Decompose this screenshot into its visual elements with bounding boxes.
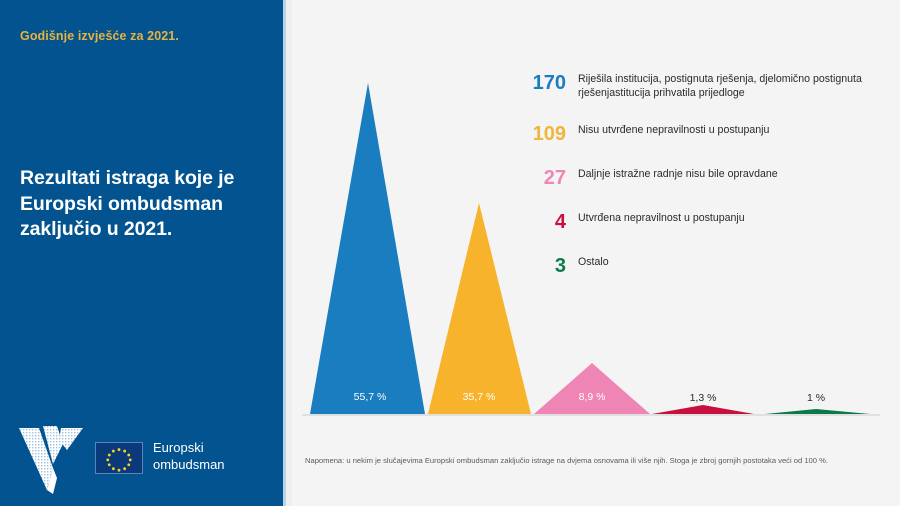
chart-baseline [302,414,880,416]
infographic-page: Godišnje izvješće za 2021. Rezultati ist… [0,0,900,506]
chart-value-label-2: 8,9 % [579,391,606,403]
chart-value-label-3: 1,3 % [690,392,717,404]
chart-value-label-4: 1 % [807,392,825,404]
ombudsman-v-mark-icon [17,420,87,496]
legend-value: 3 [506,255,566,276]
legend-value: 27 [506,167,566,188]
logo-text-line1: Europski [153,440,225,457]
chart-value-label-1: 35,7 % [463,391,496,403]
legend-item: 4 Utvrđena nepravilnost u postupanju [506,211,896,232]
legend-item: 27 Daljnje istražne radnje nisu bile opr… [506,167,896,188]
legend-label: Ostalo [578,255,896,269]
legend-value: 170 [506,72,566,93]
legend-label: Daljnje istražne radnje nisu bile opravd… [578,167,896,181]
legend-label: Nisu utvrđene nepravilnosti u postupanju [578,123,896,137]
legend-value: 109 [506,123,566,144]
legend-value: 4 [506,211,566,232]
legend-item: 170 Riješila institucija, postignuta rje… [506,72,896,101]
chart-footnote: Napomena: u nekim je slučajevima Europsk… [305,455,850,466]
legend-label: Utvrđena nepravilnost u postupanju [578,211,896,225]
legend-label: Riješila institucija, postignuta rješenj… [578,72,896,101]
chart-value-label-0: 55,7 % [354,391,387,403]
logo-text-line2: ombudsman [153,457,225,474]
chart-legend: 170 Riješila institucija, postignuta rje… [506,72,896,291]
chart-shape-2 [534,363,650,414]
eu-flag-icon [95,442,143,474]
chart-shape-0 [310,83,425,414]
page-title: Rezultati istraga koje je Europski ombud… [20,166,270,243]
chart-shape-3 [652,405,754,414]
legend-item: 3 Ostalo [506,255,896,276]
report-kicker: Godišnje izvješće za 2021. [20,29,179,43]
logo-text: Europski ombudsman [153,440,225,473]
logo: Europski ombudsman [17,420,217,496]
legend-item: 109 Nisu utvrđene nepravilnosti u postup… [506,123,896,144]
eu-stars-icon [96,443,142,473]
